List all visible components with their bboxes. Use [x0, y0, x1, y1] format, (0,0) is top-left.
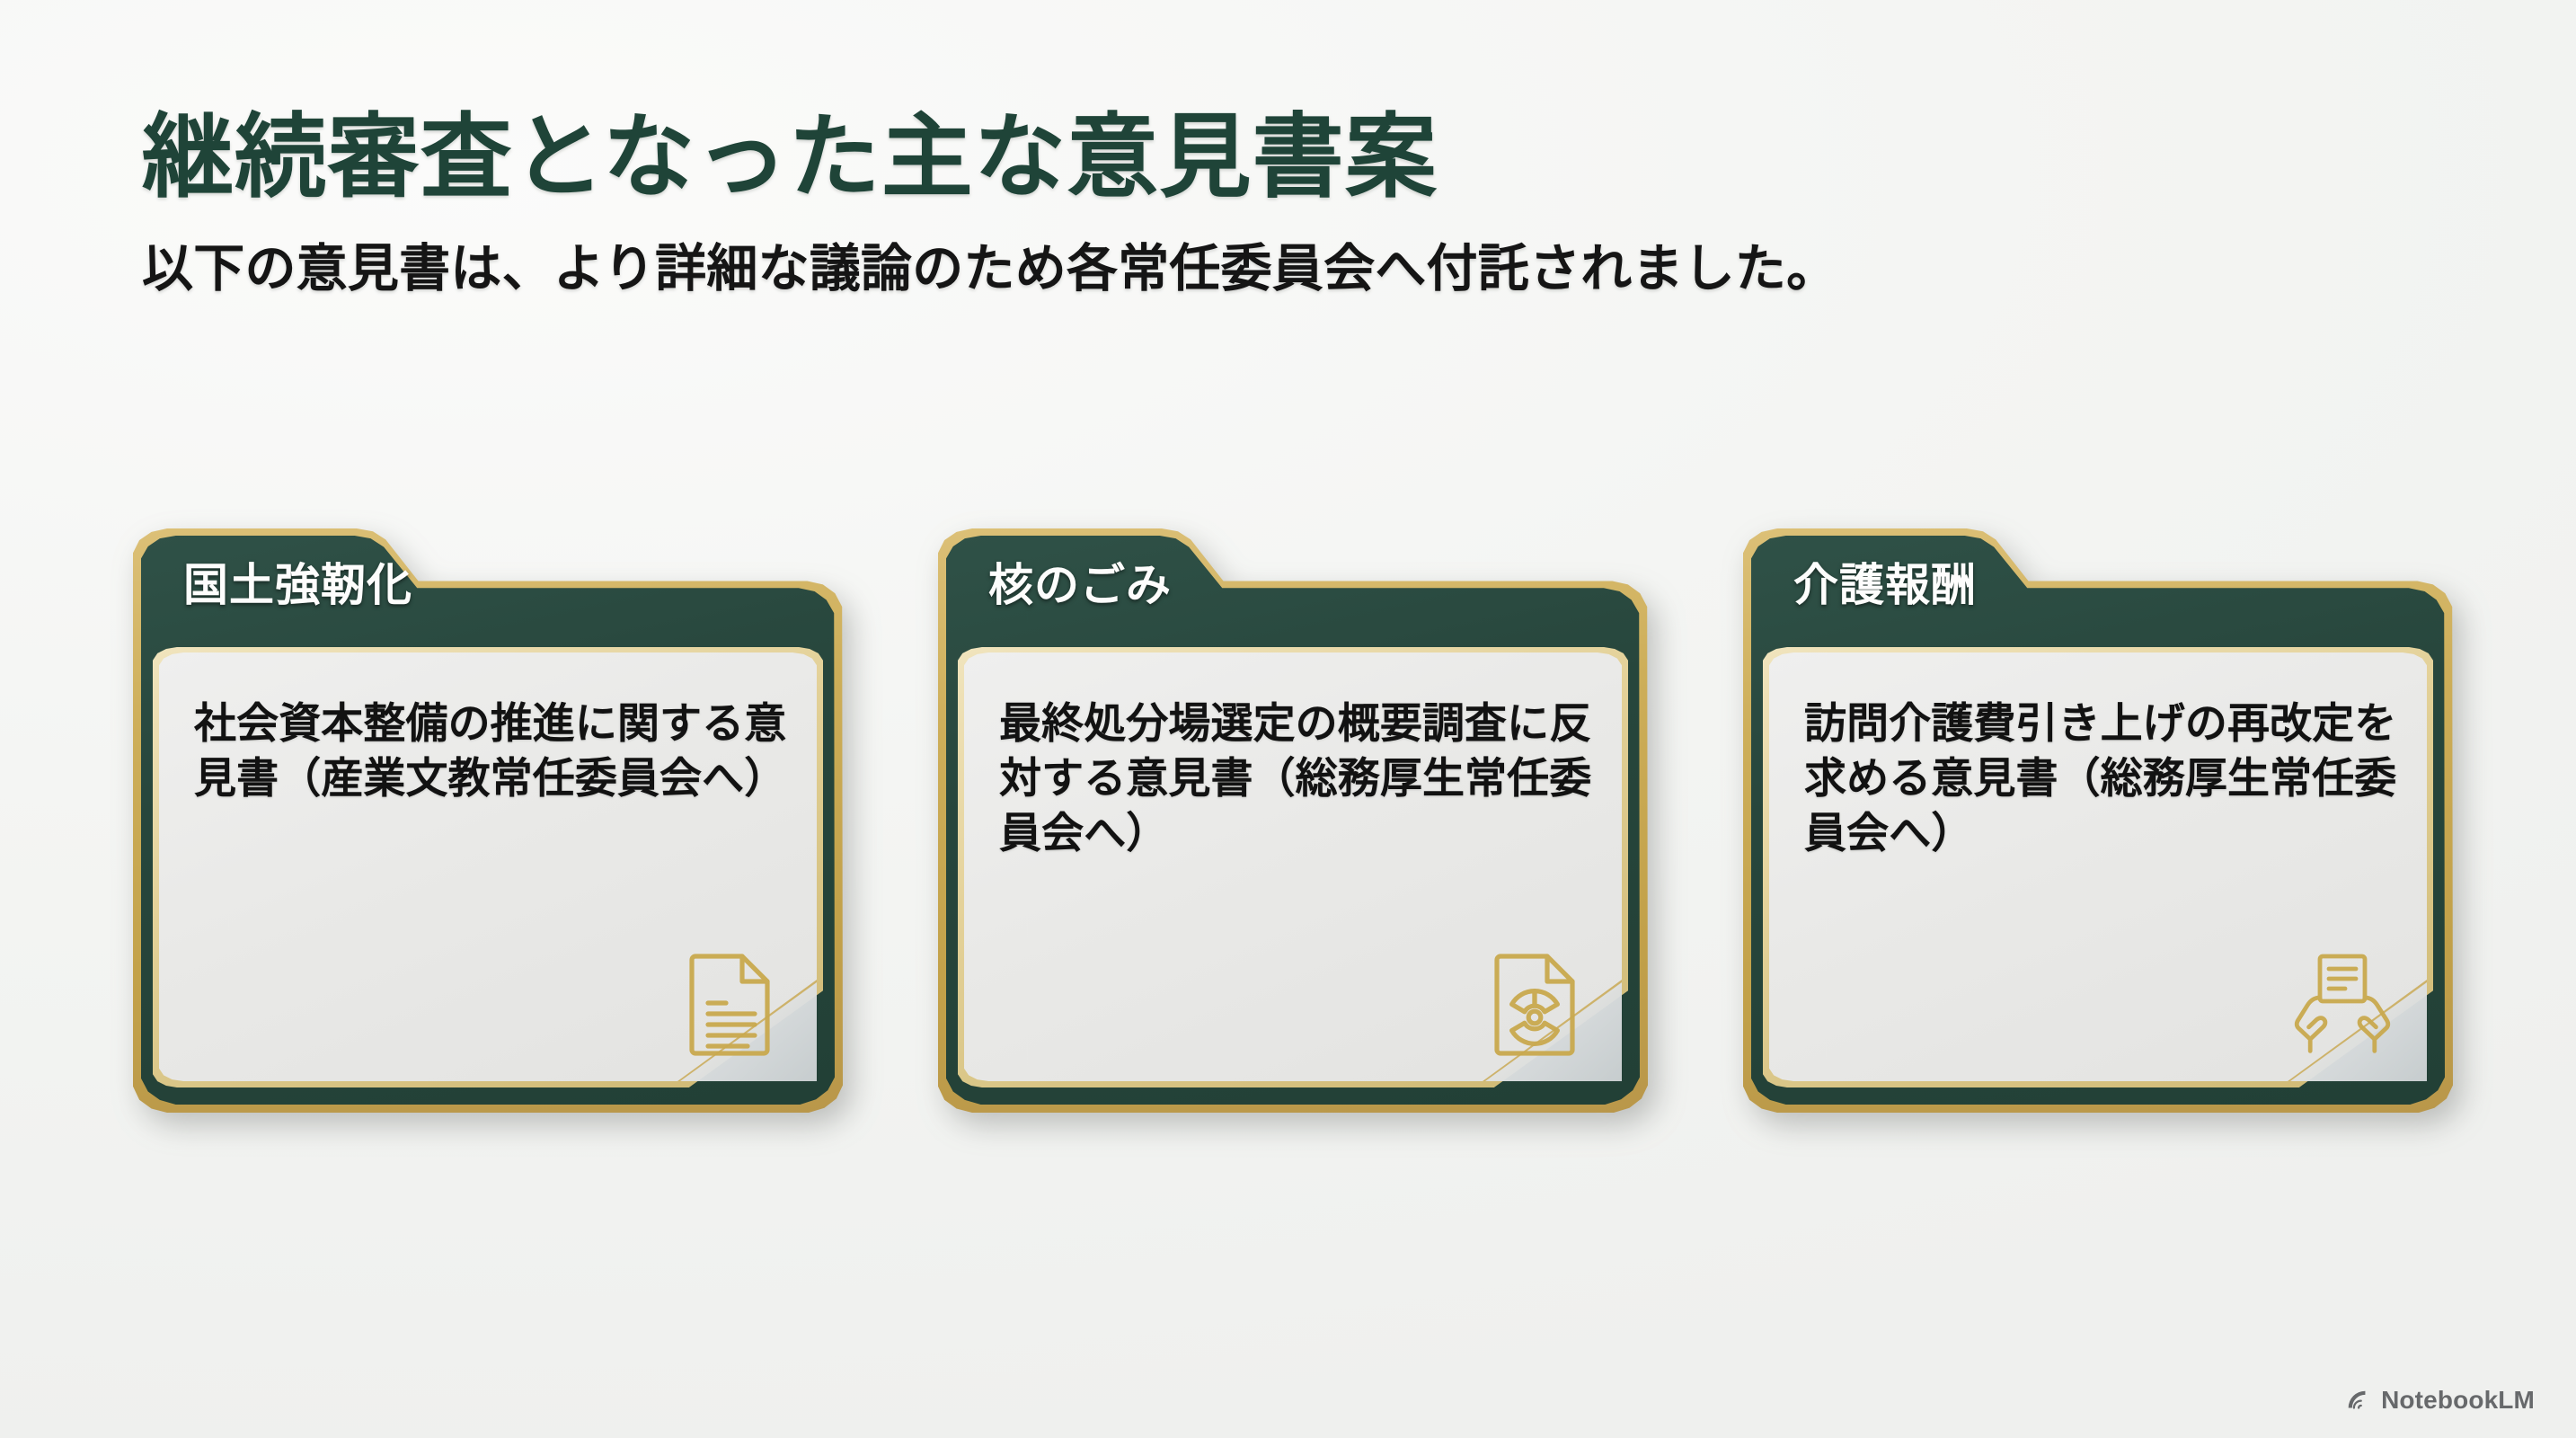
paper-body-text: 社会資本整備の推進に関する意見書（産業文教常任委員会へ）	[194, 696, 792, 805]
paper-body-text: 訪問介護費引き上げの再改定を求める意見書（総務厚生常任委員会へ）	[1804, 696, 2403, 860]
folder-tab-label: 国土強靭化	[183, 562, 412, 609]
folder-tab-label: 介護報酬	[1793, 562, 1977, 609]
folder-card[interactable]: 国土強靭化 社会資本整備の推進に関す	[133, 528, 843, 1113]
notebooklm-watermark: NotebookLM	[2344, 1386, 2535, 1415]
slide-canvas: 継続審査となった主な意見書案 以下の意見書は、より詳細な議論のため各常任委員会へ…	[0, 0, 2576, 1438]
paper-body-text: 最終処分場選定の概要調査に反対する意見書（総務厚生常任委員会へ）	[999, 696, 1598, 860]
radiation-document-icon	[1479, 945, 1594, 1061]
paper-sheet: 最終処分場選定の概要調査に反対する意見書（総務厚生常任委員会へ）	[958, 647, 1628, 1087]
folder-card-row: 国土強靭化 社会資本整備の推進に関す	[133, 528, 2469, 1140]
notebooklm-spiral-icon	[2344, 1387, 2371, 1414]
folder-card[interactable]: 核のごみ 最終処分場選定の概要調査に反対する意見書（総務厚生常	[938, 528, 1648, 1113]
notebooklm-label: NotebookLM	[2381, 1386, 2535, 1415]
page-title: 継続審査となった主な意見書案	[142, 106, 2442, 209]
heading-block: 継続審査となった主な意見書案 以下の意見書は、より詳細な議論のため各常任委員会へ…	[142, 106, 2442, 302]
paper-sheet: 訪問介護費引き上げの再改定を求める意見書（総務厚生常任委員会へ）	[1763, 647, 2433, 1087]
folder-card[interactable]: 介護報酬	[1743, 528, 2453, 1113]
page-subtitle: 以下の意見書は、より詳細な議論のため各常任委員会へ付託されました。	[142, 235, 2442, 302]
folder-tab-label: 核のごみ	[988, 562, 1172, 609]
hands-holding-document-icon	[2284, 945, 2399, 1061]
paper-sheet: 社会資本整備の推進に関する意見書（産業文教常任委員会へ）	[153, 647, 823, 1087]
document-icon	[674, 945, 789, 1061]
